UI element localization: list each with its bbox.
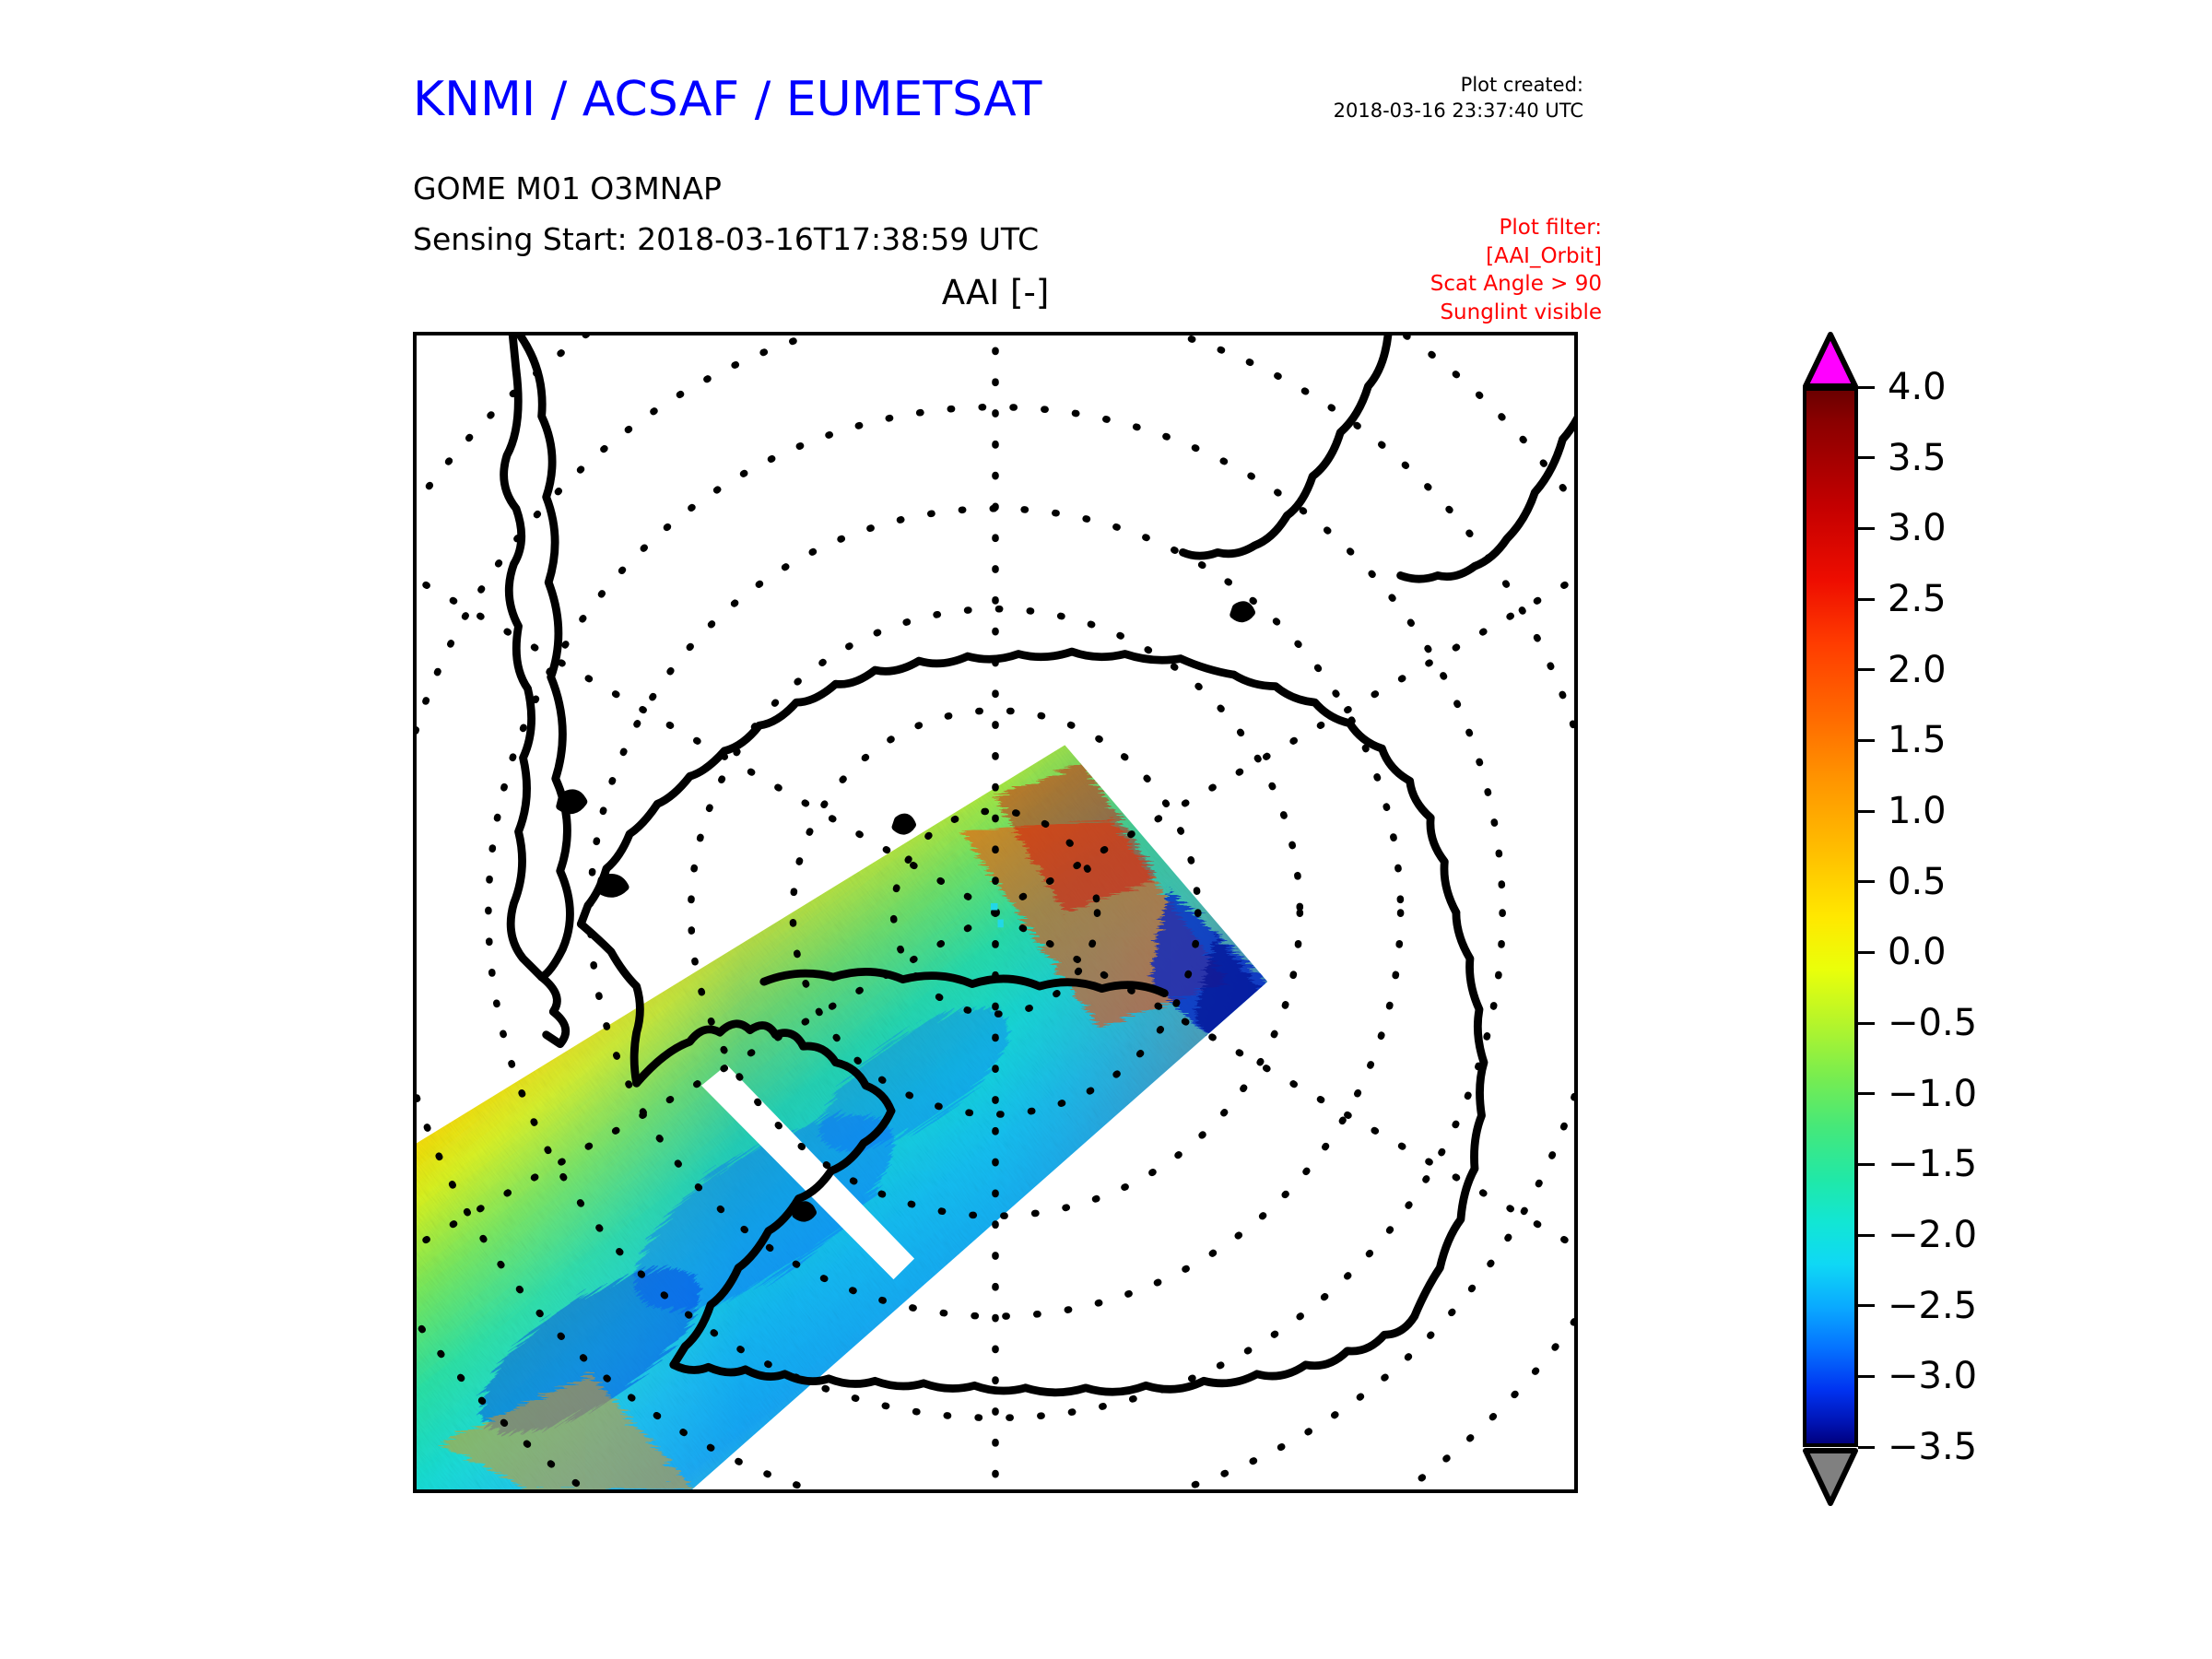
colorbar-under-arrow [1803, 1445, 1858, 1506]
colorbar-tick-label-10: −1.0 [1888, 1073, 1977, 1115]
coastline-antarctica-north [724, 652, 1234, 751]
island-south-georgia [560, 794, 583, 810]
map-axes[interactable] [413, 332, 1578, 1493]
colorbar-tick-8 [1858, 951, 1875, 954]
colorbar-tick-13 [1858, 1304, 1875, 1307]
colorbar-tick-7 [1858, 880, 1875, 883]
colorbar-tick-label-2: 3.0 [1888, 507, 1947, 549]
colorbar-tick-5 [1858, 739, 1875, 742]
coastline-antarctica-south-east [1026, 1316, 1415, 1393]
polar-stereographic-map [417, 335, 1574, 1489]
coastline-southern-africa-east [1401, 335, 1574, 579]
colorbar-tick-14 [1858, 1375, 1875, 1378]
colorbar-tick-label-15: −3.5 [1888, 1426, 1977, 1468]
colorbar-tick-1 [1858, 456, 1875, 459]
colorbar-tick-label-4: 2.0 [1888, 649, 1947, 691]
plot-filter-name: [AAI_Orbit] [1298, 242, 1602, 271]
colorbar-tick-11 [1858, 1163, 1875, 1166]
colorbar-tick-label-12: −2.0 [1888, 1214, 1977, 1256]
colorbar-tick-label-9: −0.5 [1888, 1002, 1977, 1044]
colorbar-tick-label-7: 0.5 [1888, 861, 1947, 903]
colorbar-tick-3 [1858, 598, 1875, 601]
colorbar-tick-15 [1858, 1446, 1875, 1449]
plot-created-block: Plot created: 2018-03-16 23:37:40 UTC [1307, 72, 1583, 124]
colorbar-tick-label-14: −3.0 [1888, 1355, 1977, 1397]
product-name: GOME M01 O3MNAP [413, 171, 722, 206]
coastline-south-america [504, 335, 542, 977]
colorbar-tick-label-0: 4.0 [1888, 366, 1947, 408]
coastline-tierra-del-fuego [542, 977, 566, 1044]
colorbar-tick-label-13: −2.5 [1888, 1285, 1977, 1327]
sensing-start: Sensing Start: 2018-03-16T17:38:59 UTC [413, 221, 1039, 257]
coastline-southern-africa [1182, 335, 1389, 556]
colorbar-tick-label-3: 2.5 [1888, 578, 1947, 620]
colorbar-over-arrow [1803, 332, 1858, 389]
colorbar-tick-6 [1858, 810, 1875, 813]
colorbar-tick-label-1: 3.5 [1888, 437, 1947, 479]
colorbar-tick-12 [1858, 1234, 1875, 1237]
colorbar-tick-label-8: 0.0 [1888, 931, 1947, 973]
island-bouvet [1234, 606, 1252, 618]
plot-created-label: Plot created: [1307, 72, 1583, 98]
colorbar-tick-label-5: 1.5 [1888, 719, 1947, 761]
colorbar-tick-label-11: −1.5 [1888, 1143, 1977, 1185]
axes-title: AAI [-] [413, 273, 1578, 312]
organisation-title: KNMI / ACSAF / EUMETSAT [413, 72, 1041, 127]
colorbar-tick-2 [1858, 527, 1875, 530]
colorbar[interactable]: 4.03.53.02.52.01.51.00.50.0−0.5−1.0−1.5−… [1803, 328, 2190, 1517]
coastline-antarctica-east [1415, 912, 1484, 1316]
colorbar-tick-10 [1858, 1092, 1875, 1095]
colorbar-tick-label-6: 1.0 [1888, 790, 1947, 832]
island-south-sandwich [896, 818, 912, 830]
island-heard [796, 1206, 813, 1218]
colorbar-tick-0 [1858, 386, 1875, 389]
plot-filter-label: Plot filter: [1298, 214, 1602, 242]
figure-canvas: KNMI / ACSAF / EUMETSAT Plot created: 20… [0, 0, 2212, 1659]
colorbar-gradient [1803, 387, 1858, 1447]
plot-created-value: 2018-03-16 23:37:40 UTC [1307, 98, 1583, 124]
colorbar-tick-4 [1858, 668, 1875, 671]
colorbar-tick-9 [1858, 1022, 1875, 1025]
